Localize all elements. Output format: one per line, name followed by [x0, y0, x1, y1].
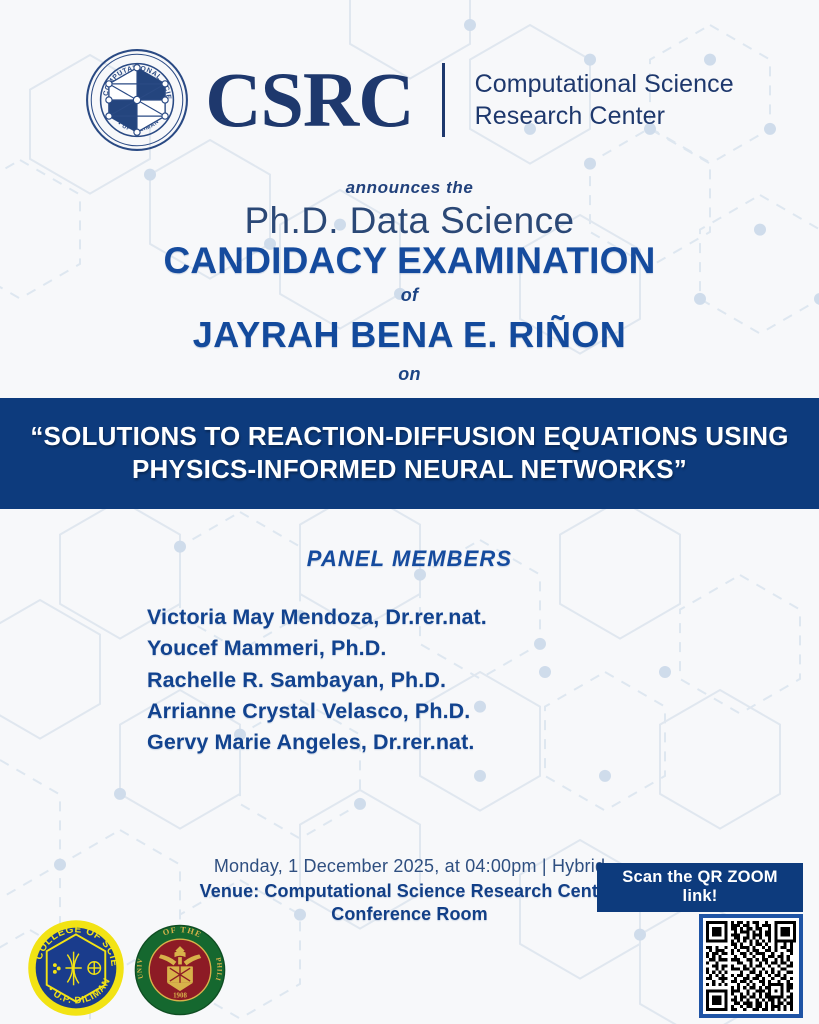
announcement-block: announces the Ph.D. Data Science CANDIDA… [0, 178, 819, 385]
announces-kicker: announces the [0, 178, 819, 198]
thesis-title-line2: PHYSICS-INFORMED NEURAL NETWORKS” [30, 453, 788, 486]
brand-header: COMPUTATIONAL SCIENCE RESEARCH CENTER • … [0, 0, 819, 158]
panel-members-list: Victoria May Mendoza, Dr.rer.nat. Youcef… [147, 602, 547, 759]
csrc-subtitle-line2: Research Center [475, 100, 734, 132]
csrc-wordmark: CSRC [205, 63, 413, 137]
thesis-title-banner: “SOLUTIONS TO REACTION-DIFFUSION EQUATIO… [0, 398, 819, 509]
panel-members-heading: PANEL MEMBERS [0, 546, 819, 572]
list-item: Youcef Mammeri, Ph.D. [147, 633, 547, 664]
degree-program: Ph.D. Data Science [0, 202, 819, 241]
of-connector: of [0, 285, 819, 306]
csrc-seal-icon: COMPUTATIONAL SCIENCE RESEARCH CENTER • … [85, 48, 189, 152]
poster-canvas: COMPUTATIONAL SCIENCE RESEARCH CENTER • … [0, 0, 819, 1024]
list-item: Victoria May Mendoza, Dr.rer.nat. [147, 602, 547, 633]
list-item: Arrianne Crystal Velasco, Ph.D. [147, 696, 547, 727]
list-item: Rachelle R. Sambayan, Ph.D. [147, 665, 547, 696]
qr-code-icon[interactable] [699, 914, 803, 1018]
csrc-subtitle-line1: Computational Science [475, 68, 734, 100]
thesis-title-line1: “SOLUTIONS TO REACTION-DIFFUSION EQUATIO… [30, 420, 788, 453]
footer-logos: COLLEGE OF SCIENCE • U.P. DILIMAN • [28, 920, 226, 1016]
qr-caption: Scan the QR ZOOM link! [597, 863, 803, 912]
event-type: CANDIDACY EXAMINATION [0, 241, 819, 281]
svg-text:1908: 1908 [173, 993, 187, 1000]
brand-divider [442, 63, 445, 137]
csrc-subtitle: Computational Science Research Center [475, 68, 734, 132]
thesis-title: “SOLUTIONS TO REACTION-DIFFUSION EQUATIO… [30, 420, 788, 487]
list-item: Gervy Marie Angeles, Dr.rer.nat. [147, 727, 547, 758]
candidate-name: JAYRAH BENA E. RIÑON [0, 314, 819, 356]
up-university-seal-icon: OF THE UNIVERSITY PHILIPPINES [134, 924, 226, 1016]
qr-zoom-block[interactable]: Scan the QR ZOOM link! [597, 863, 803, 1018]
college-of-science-seal-icon: COLLEGE OF SCIENCE • U.P. DILIMAN • [28, 920, 124, 1016]
on-connector: on [0, 364, 819, 385]
